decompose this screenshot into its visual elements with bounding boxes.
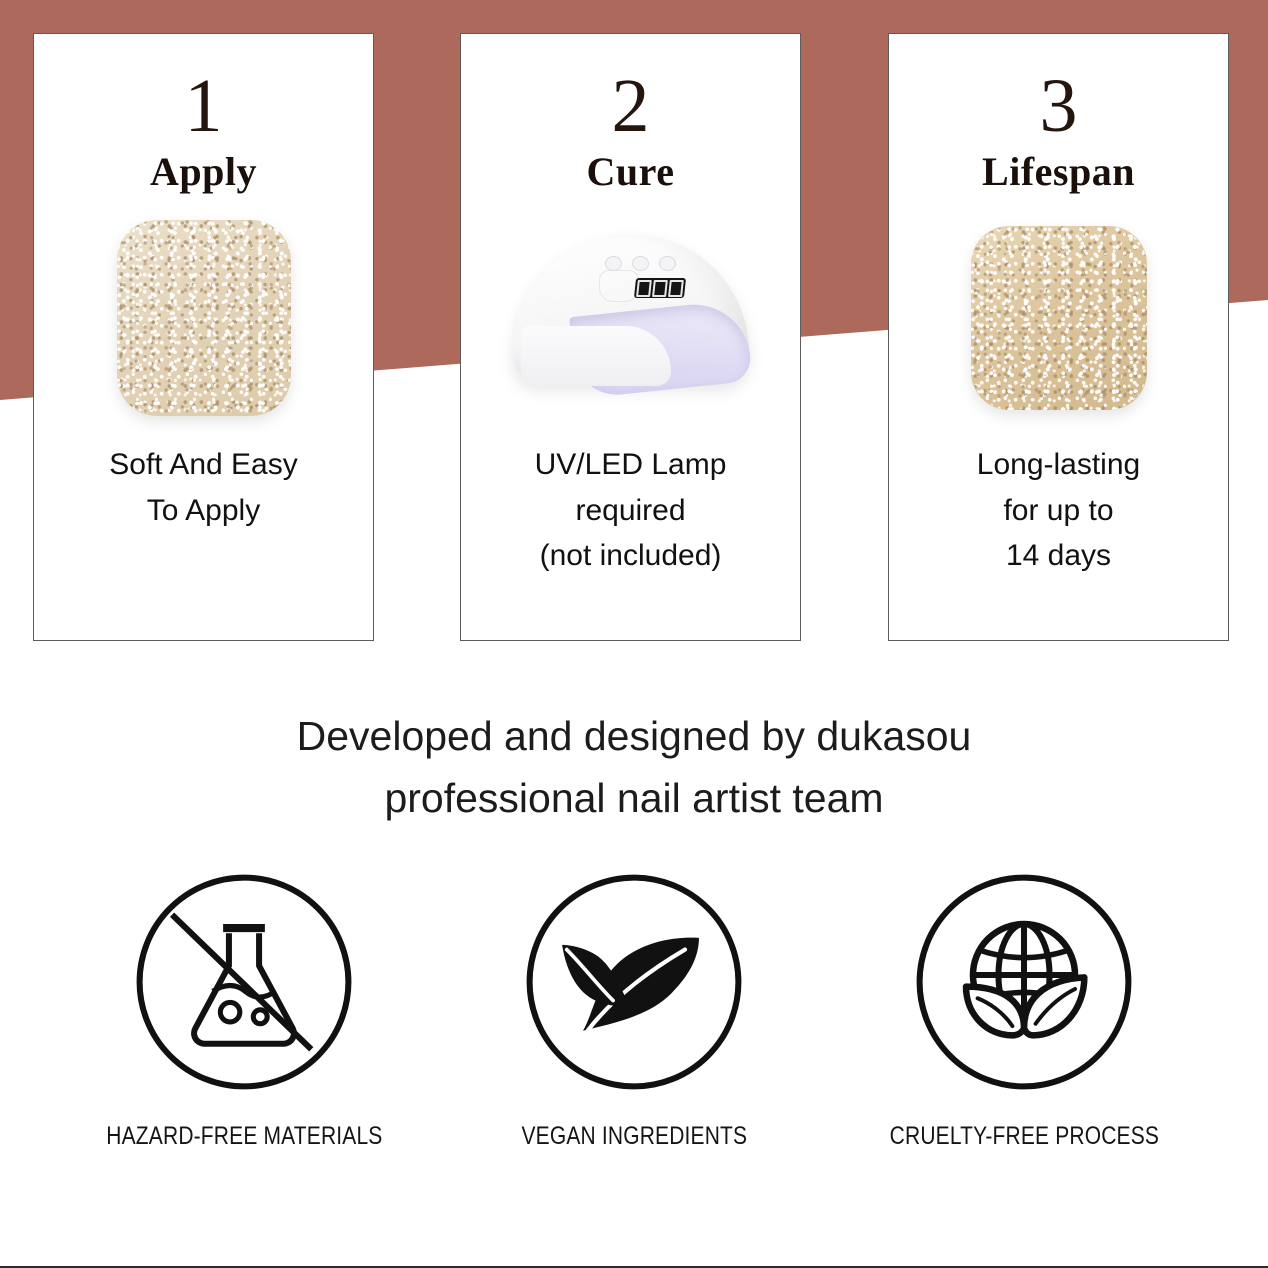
step-caption: UV/LED Lamp required (not included) (535, 442, 727, 579)
lamp-button (605, 256, 622, 271)
glitter-nail-swatch-icon (971, 226, 1147, 410)
display-segment (652, 280, 668, 297)
display-segment (636, 280, 652, 297)
no-chemicals-flask-icon (128, 866, 360, 1098)
badge-vegan: VEGAN INGREDIENTS (509, 866, 759, 1151)
step-card-cure: 2 Cure UV/LED Lamp required (n (460, 33, 801, 641)
badge-hazard-free: HAZARD-FREE MATERIALS (119, 866, 369, 1151)
step-card-apply: 1 Apply Soft And Easy To Apply (33, 33, 374, 641)
cruelty-free-globe-leaves-icon (908, 866, 1140, 1098)
uv-led-lamp-icon (513, 234, 749, 402)
step-visual-nail-swatch (34, 208, 373, 428)
step-title: Lifespan (982, 152, 1135, 192)
lamp-digital-display (633, 278, 685, 298)
trust-badges: HAZARD-FREE MATERIALS VEGAN INGREDIENTS (0, 866, 1268, 1151)
lamp-button (659, 256, 676, 271)
step-visual-uv-lamp (461, 208, 800, 428)
step-number: 3 (1040, 68, 1078, 144)
badge-cruelty-free: CRUELTY-FREE PROCESS (899, 866, 1149, 1151)
lamp-buttons (605, 256, 685, 272)
lamp-button (632, 256, 649, 271)
step-caption: Long-lasting for up to 14 days (977, 442, 1140, 579)
lamp-hand-graphic (599, 270, 639, 302)
display-segment (668, 280, 684, 297)
glitter-nail-swatch-icon (117, 220, 291, 416)
step-title: Apply (150, 152, 257, 192)
promo-panel: 1 Apply Soft And Easy To Apply 2 Cure (0, 0, 1268, 1268)
vegan-leaves-icon (518, 866, 750, 1098)
step-caption: Soft And Easy To Apply (109, 442, 297, 533)
lamp-front-panel (521, 326, 671, 386)
badge-label: CRUELTY-FREE PROCESS (889, 1122, 1158, 1151)
page-title: Developed and designed by dukasou profes… (0, 706, 1268, 829)
step-card-lifespan: 3 Lifespan Long-lasting for up to 14 day… (888, 33, 1229, 641)
step-number: 2 (612, 68, 650, 144)
badge-label: HAZARD-FREE MATERIALS (106, 1122, 382, 1151)
step-number: 1 (185, 68, 223, 144)
step-visual-nail-swatch (889, 208, 1228, 428)
badge-label: VEGAN INGREDIENTS (521, 1122, 747, 1151)
step-title: Cure (587, 152, 675, 192)
